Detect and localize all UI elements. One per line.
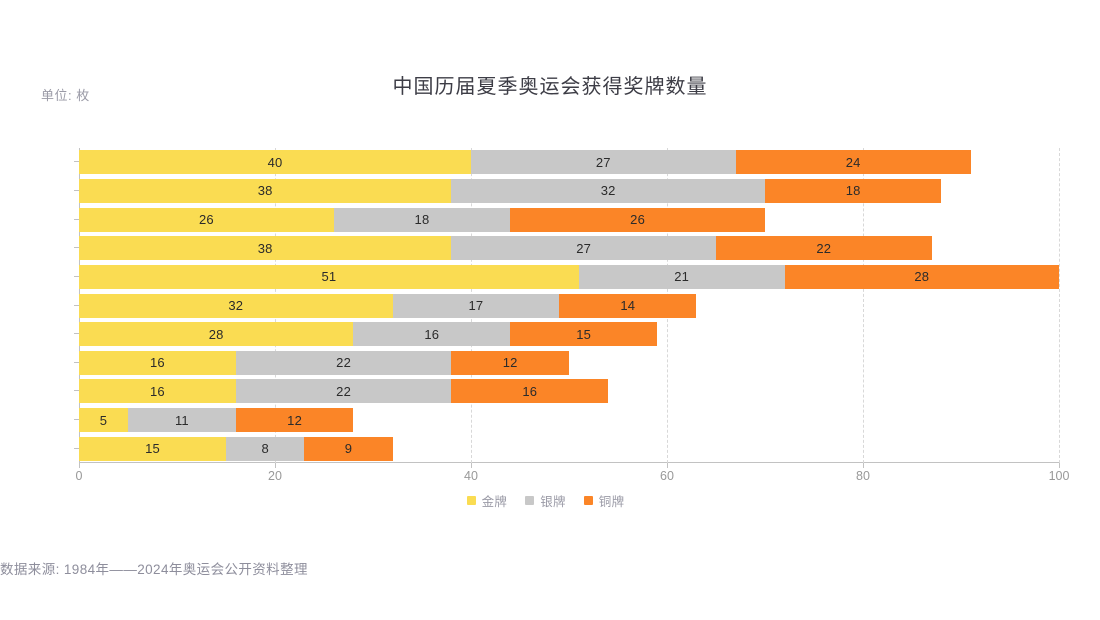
chart-row: 2004年321714: [79, 294, 1059, 318]
legend-item-金牌[interactable]: 金牌: [467, 491, 508, 510]
bar-segment-铜牌[interactable]: 24: [736, 150, 971, 174]
bar-value-label: 15: [576, 328, 591, 341]
bar-value-label: 18: [846, 184, 861, 197]
bar-segment-金牌[interactable]: 51: [79, 265, 579, 289]
bar-value-label: 32: [601, 184, 616, 197]
bar-value-label: 26: [199, 213, 214, 226]
bar-value-label: 16: [150, 356, 165, 369]
plot-area: 2024年4027242021年3832182016年2618262012年38…: [79, 148, 1059, 463]
bar-value-label: 18: [415, 213, 430, 226]
legend-swatch-icon: [467, 496, 476, 505]
bar-value-label: 16: [522, 385, 537, 398]
bar-segment-银牌[interactable]: 22: [236, 379, 452, 403]
bar-segment-银牌[interactable]: 8: [226, 437, 304, 461]
bar-value-label: 28: [209, 328, 224, 341]
bar-value-label: 28: [914, 270, 929, 283]
chart-row: 1992年162216: [79, 379, 1059, 403]
bar-value-label: 51: [321, 270, 336, 283]
chart-row: 2008年512128: [79, 265, 1059, 289]
bar-segment-金牌[interactable]: 16: [79, 379, 236, 403]
bar-segment-铜牌[interactable]: 15: [510, 322, 657, 346]
bar-value-label: 38: [258, 184, 273, 197]
bar-segment-铜牌[interactable]: 18: [765, 179, 941, 203]
x-axis-label: 0: [76, 469, 83, 483]
bar-value-label: 9: [345, 442, 352, 455]
bar-segment-银牌[interactable]: 17: [393, 294, 560, 318]
chart-row: 1996年162212: [79, 351, 1059, 375]
bar-segment-金牌[interactable]: 16: [79, 351, 236, 375]
bar-segment-铜牌[interactable]: 26: [510, 208, 765, 232]
legend-swatch-icon: [525, 496, 534, 505]
bar-segment-金牌[interactable]: 40: [79, 150, 471, 174]
x-axis-tick: [471, 463, 472, 468]
bar-segment-银牌[interactable]: 16: [353, 322, 510, 346]
bar-value-label: 22: [336, 356, 351, 369]
bar-value-label: 15: [145, 442, 160, 455]
bar-segment-金牌[interactable]: 38: [79, 236, 451, 260]
legend-label: 铜牌: [599, 491, 625, 510]
bar-value-label: 5: [100, 414, 107, 427]
x-axis-tick: [863, 463, 864, 468]
bar-value-label: 12: [503, 356, 518, 369]
bar-segment-银牌[interactable]: 11: [128, 408, 236, 432]
x-axis-tick: [275, 463, 276, 468]
bar-value-label: 16: [424, 328, 439, 341]
chart-row: 2024年402724: [79, 150, 1059, 174]
x-axis-label: 60: [660, 469, 674, 483]
bar-segment-铜牌[interactable]: 14: [559, 294, 696, 318]
bar-value-label: 27: [596, 156, 611, 169]
chart-row: 1984年1589: [79, 437, 1059, 461]
x-axis-label: 100: [1049, 469, 1070, 483]
bar-segment-铜牌[interactable]: 9: [304, 437, 392, 461]
x-axis-tick: [79, 463, 80, 468]
bar-segment-银牌[interactable]: 32: [451, 179, 765, 203]
chart-row: 2021年383218: [79, 179, 1059, 203]
bar-segment-铜牌[interactable]: 28: [785, 265, 1059, 289]
legend-item-铜牌[interactable]: 铜牌: [584, 491, 625, 510]
legend-item-银牌[interactable]: 银牌: [525, 491, 566, 510]
bar-value-label: 40: [268, 156, 283, 169]
bar-segment-铜牌[interactable]: 12: [451, 351, 569, 375]
chart-title: 中国历届夏季奥运会获得奖牌数量: [0, 70, 1100, 99]
bar-segment-铜牌[interactable]: 12: [236, 408, 354, 432]
x-axis-tick: [667, 463, 668, 468]
bar-segment-金牌[interactable]: 32: [79, 294, 393, 318]
chart-row: 1988年51112: [79, 408, 1059, 432]
legend-swatch-icon: [584, 496, 593, 505]
bar-value-label: 14: [620, 299, 635, 312]
bar-segment-铜牌[interactable]: 22: [716, 236, 932, 260]
bar-segment-银牌[interactable]: 27: [471, 150, 736, 174]
bar-value-label: 38: [258, 242, 273, 255]
chart-row: 2012年382722: [79, 236, 1059, 260]
x-axis-label: 40: [464, 469, 478, 483]
legend-label: 金牌: [482, 491, 508, 510]
bar-value-label: 26: [630, 213, 645, 226]
chart-legend: 金牌银牌铜牌: [0, 491, 1100, 510]
bar-value-label: 21: [674, 270, 689, 283]
chart-row: 2016年261826: [79, 208, 1059, 232]
legend-label: 银牌: [540, 491, 566, 510]
bar-segment-银牌[interactable]: 21: [579, 265, 785, 289]
gridline: [1059, 148, 1060, 463]
bar-segment-金牌[interactable]: 38: [79, 179, 451, 203]
x-axis-label: 20: [268, 469, 282, 483]
bar-segment-金牌[interactable]: 15: [79, 437, 226, 461]
bar-value-label: 24: [846, 156, 861, 169]
bar-value-label: 22: [336, 385, 351, 398]
bar-value-label: 22: [816, 242, 831, 255]
bar-value-label: 16: [150, 385, 165, 398]
bar-value-label: 12: [287, 414, 302, 427]
bar-value-label: 17: [468, 299, 483, 312]
source-note: 数据来源: 1984年——2024年奥运会公开资料整理: [0, 558, 308, 578]
bar-segment-金牌[interactable]: 26: [79, 208, 334, 232]
bar-segment-铜牌[interactable]: 16: [451, 379, 608, 403]
bar-value-label: 11: [175, 414, 189, 427]
bar-value-label: 8: [261, 442, 268, 455]
bar-segment-银牌[interactable]: 22: [236, 351, 452, 375]
bar-segment-银牌[interactable]: 27: [451, 236, 716, 260]
bar-value-label: 27: [576, 242, 591, 255]
bar-value-label: 32: [228, 299, 243, 312]
x-axis-tick: [1059, 463, 1060, 468]
chart-row: 2000年281615: [79, 322, 1059, 346]
bar-segment-金牌[interactable]: 5: [79, 408, 128, 432]
bar-segment-金牌[interactable]: 28: [79, 322, 353, 346]
x-axis-label: 80: [856, 469, 870, 483]
bar-segment-银牌[interactable]: 18: [334, 208, 510, 232]
